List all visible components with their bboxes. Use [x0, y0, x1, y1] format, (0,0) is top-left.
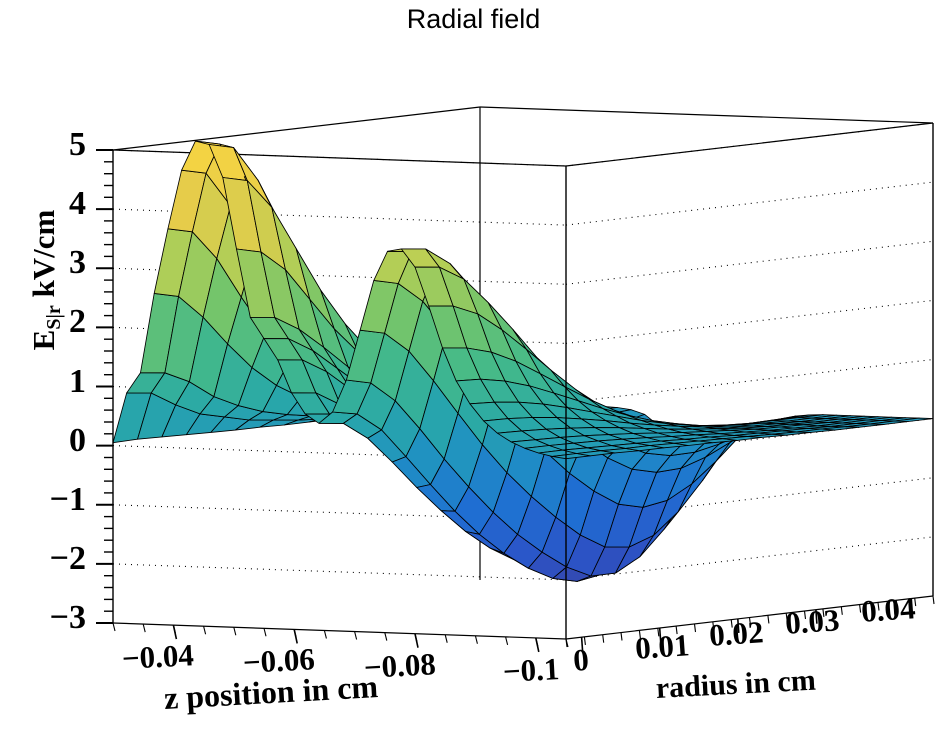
- y-axis-tick-label: 0.02: [708, 615, 765, 655]
- z-axis-tick-label: 5: [32, 126, 86, 164]
- x-axis-minor-tick: [264, 628, 266, 636]
- x-axis-tick-label: −0.06: [242, 642, 316, 682]
- gridline-left-wall: [113, 564, 566, 580]
- frame-top-right-edge: [566, 123, 933, 166]
- y-axis-tick-label: 0.01: [634, 627, 691, 667]
- frame-bottom-left-edge: [113, 623, 566, 639]
- x-axis-minor-tick: [204, 626, 206, 634]
- y-axis-minor-tick: [768, 615, 769, 623]
- x-axis-minor-tick: [445, 635, 447, 643]
- y-axis-tick-label: 0.03: [784, 602, 841, 642]
- y-axis-minor-tick: [695, 624, 696, 632]
- gridline-right-wall: [566, 182, 933, 225]
- gridline-right-wall: [566, 300, 933, 343]
- z-axis-tick-label: 4: [32, 185, 86, 223]
- x-axis-tick-label: −0.08: [363, 646, 437, 686]
- z-axis-tick-label: 2: [32, 303, 86, 341]
- z-axis-tick-label: −3: [32, 599, 86, 637]
- x-axis-tick-label: −0.1: [502, 651, 560, 690]
- surface-mesh: [113, 141, 933, 581]
- y-axis-minor-tick: [933, 596, 934, 604]
- z-axis-tick-label: 0: [32, 422, 86, 460]
- z-axis-tick-label: 3: [32, 244, 86, 282]
- frame-top-back-left-edge: [113, 107, 480, 150]
- x-axis-tick-label: −0.04: [121, 637, 195, 677]
- y-axis-tick-label: 0.04: [860, 590, 917, 630]
- z-axis-tick-label: −2: [32, 540, 86, 578]
- x-axis-minor-tick: [143, 624, 145, 632]
- x-axis-minor-tick: [113, 623, 115, 631]
- plot-canvas: Radial field ES|r kV/cm z position in cm…: [0, 0, 947, 739]
- x-axis-minor-tick: [385, 633, 387, 641]
- y-axis-minor-tick: [603, 635, 604, 643]
- frame-top-back-right-edge: [480, 107, 933, 123]
- gridline-right-wall: [566, 241, 933, 284]
- x-axis-minor-tick: [355, 632, 357, 640]
- x-axis-minor-tick: [475, 636, 477, 644]
- x-axis-minor-tick: [324, 631, 326, 639]
- y-axis-minor-tick: [621, 633, 622, 641]
- x-axis-minor-tick: [234, 627, 236, 635]
- x-axis-minor-tick: [506, 637, 508, 645]
- frame-top-left-edge: [113, 150, 566, 166]
- y-axis-minor-tick: [841, 607, 842, 615]
- z-axis-tick-label: 1: [32, 363, 86, 401]
- gridline-right-wall: [566, 360, 933, 403]
- y-axis-tick-label: 0: [572, 642, 590, 679]
- z-axis-tick-label: −1: [32, 481, 86, 519]
